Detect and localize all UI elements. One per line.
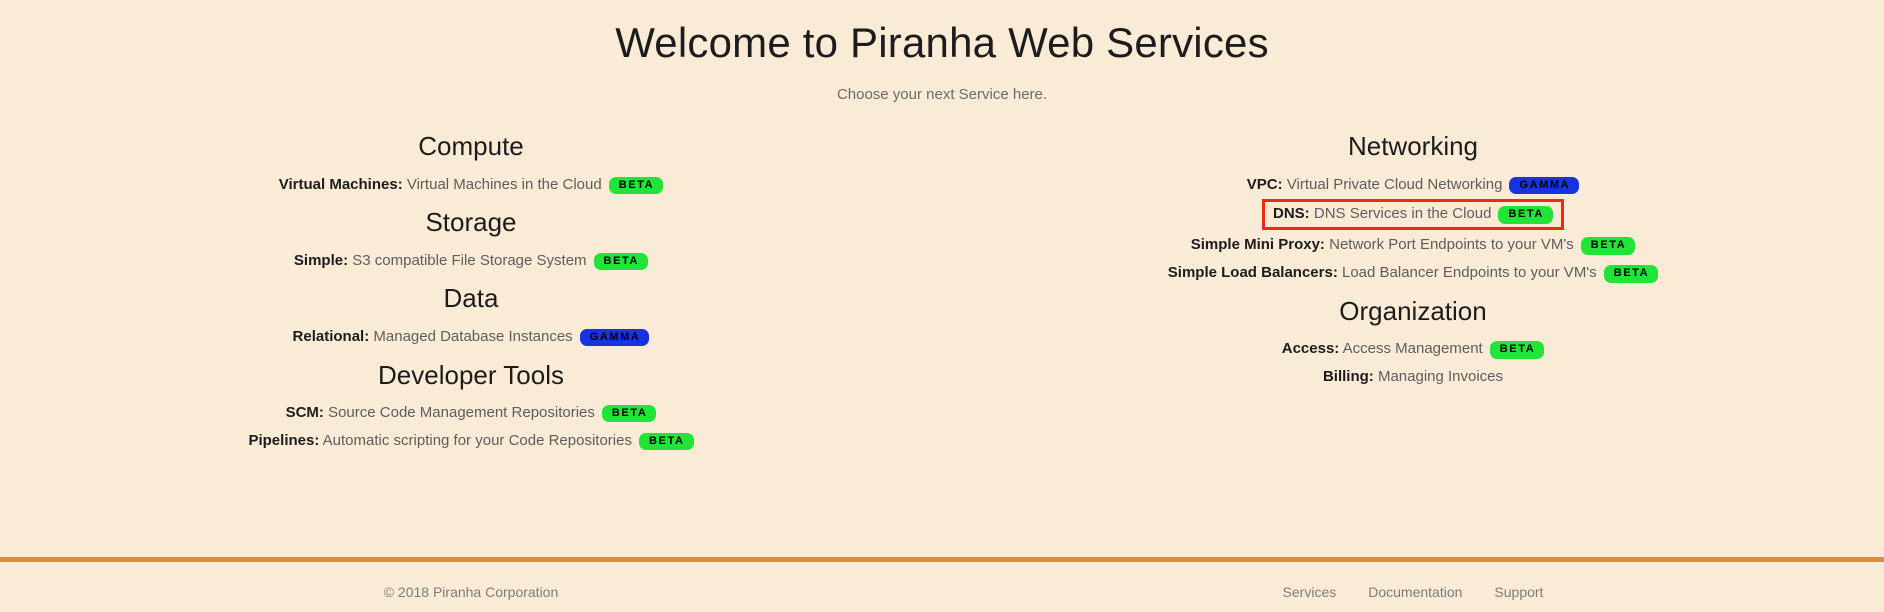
service-group: Developer ToolsSCM: Source Code Manageme… — [0, 355, 942, 455]
service-description: Managed Database Instances — [369, 328, 572, 345]
service-group-title: Data — [0, 278, 942, 318]
service-row[interactable]: Billing: Managing Invoices — [942, 363, 1884, 391]
service-group-title: Storage — [0, 202, 942, 242]
service-name: Simple: — [294, 252, 348, 269]
footer-link-support[interactable]: Support — [1494, 584, 1543, 600]
status-badge: BETA — [594, 253, 649, 271]
footer-inner: © 2018 Piranha Corporation ServicesDocum… — [0, 562, 1884, 600]
service-group-title: Organization — [942, 291, 1884, 331]
service-description: Virtual Machines in the Cloud — [403, 176, 602, 193]
service-row-wrapper: Access: Access ManagementBETA — [942, 335, 1884, 363]
footer-copyright-col: © 2018 Piranha Corporation — [0, 584, 942, 600]
service-description: Virtual Private Cloud Networking — [1283, 176, 1503, 193]
status-badge: BETA — [1490, 341, 1545, 359]
status-badge: BETA — [639, 433, 694, 451]
service-row-wrapper: Billing: Managing Invoices — [942, 363, 1884, 391]
footer: © 2018 Piranha Corporation ServicesDocum… — [0, 557, 1884, 612]
footer-link-services[interactable]: Services — [1283, 584, 1337, 600]
service-description: Managing Invoices — [1374, 368, 1503, 385]
service-row-wrapper: Simple Mini Proxy: Network Port Endpoint… — [942, 231, 1884, 259]
service-link[interactable]: SCM: Source Code Management Repositories — [286, 404, 595, 421]
service-row[interactable]: VPC: Virtual Private Cloud NetworkingGAM… — [942, 171, 1884, 199]
service-row[interactable]: Relational: Managed Database InstancesGA… — [0, 323, 942, 351]
service-link[interactable]: Pipelines: Automatic scripting for your … — [248, 432, 632, 449]
service-group-title: Networking — [942, 126, 1884, 166]
copyright-text: © 2018 Piranha Corporation — [384, 584, 559, 600]
status-badge: BETA — [1498, 206, 1553, 224]
service-name: Access: — [1282, 340, 1340, 357]
service-group-title: Compute — [0, 126, 942, 166]
service-link[interactable]: Simple Load Balancers: Load Balancer End… — [1168, 264, 1597, 281]
service-row-wrapper: Virtual Machines: Virtual Machines in th… — [0, 171, 942, 199]
service-name: Pipelines: — [248, 432, 319, 449]
service-name: DNS: — [1273, 205, 1310, 222]
status-badge: GAMMA — [580, 329, 650, 347]
service-row[interactable]: SCM: Source Code Management Repositories… — [0, 399, 942, 427]
service-row-wrapper: SCM: Source Code Management Repositories… — [0, 399, 942, 427]
service-link[interactable]: Access: Access Management — [1282, 340, 1483, 357]
service-column: NetworkingVPC: Virtual Private Cloud Net… — [942, 126, 1884, 458]
service-name: Billing: — [1323, 368, 1374, 385]
service-description: Source Code Management Repositories — [324, 404, 595, 421]
service-link[interactable]: DNS: DNS Services in the Cloud — [1273, 205, 1491, 222]
service-description: DNS Services in the Cloud — [1310, 205, 1492, 222]
service-name: Virtual Machines: — [279, 176, 403, 193]
service-description: Network Port Endpoints to your VM's — [1325, 236, 1574, 253]
page-root: Welcome to Piranha Web Services Choose y… — [0, 0, 1884, 612]
service-row[interactable]: Virtual Machines: Virtual Machines in th… — [0, 171, 942, 199]
service-row-wrapper: Relational: Managed Database InstancesGA… — [0, 323, 942, 351]
service-description: Automatic scripting for your Code Reposi… — [319, 432, 632, 449]
service-link[interactable]: VPC: Virtual Private Cloud Networking — [1247, 176, 1503, 193]
service-name: Simple Mini Proxy: — [1191, 236, 1325, 253]
service-row-wrapper: DNS: DNS Services in the CloudBETA — [942, 198, 1884, 231]
service-name: SCM: — [286, 404, 324, 421]
service-name: Simple Load Balancers: — [1168, 264, 1338, 281]
service-row-wrapper: Simple Load Balancers: Load Balancer End… — [942, 259, 1884, 287]
service-link[interactable]: Billing: Managing Invoices — [1323, 368, 1503, 385]
service-link[interactable]: Simple Mini Proxy: Network Port Endpoint… — [1191, 236, 1574, 253]
service-row-selected[interactable]: DNS: DNS Services in the CloudBETA — [1262, 199, 1564, 230]
page-subtitle: Choose your next Service here. — [0, 86, 1884, 104]
footer-link-documentation[interactable]: Documentation — [1368, 584, 1462, 600]
masthead: Welcome to Piranha Web Services Choose y… — [0, 0, 1884, 104]
status-badge: BETA — [1604, 265, 1659, 283]
status-badge: BETA — [602, 405, 657, 423]
status-badge: GAMMA — [1509, 177, 1579, 195]
status-badge: BETA — [1581, 237, 1636, 255]
service-row[interactable]: Simple: S3 compatible File Storage Syste… — [0, 247, 942, 275]
service-row[interactable]: Simple Mini Proxy: Network Port Endpoint… — [942, 231, 1884, 259]
service-row-wrapper: Simple: S3 compatible File Storage Syste… — [0, 247, 942, 275]
service-link[interactable]: Simple: S3 compatible File Storage Syste… — [294, 252, 587, 269]
service-column: ComputeVirtual Machines: Virtual Machine… — [0, 126, 942, 458]
service-group: OrganizationAccess: Access ManagementBET… — [942, 291, 1884, 391]
service-row-wrapper: Pipelines: Automatic scripting for your … — [0, 427, 942, 455]
service-group: NetworkingVPC: Virtual Private Cloud Net… — [942, 126, 1884, 286]
service-row[interactable]: Access: Access ManagementBETA — [942, 335, 1884, 363]
service-description: Access Management — [1339, 340, 1482, 357]
service-name: Relational: — [293, 328, 370, 345]
footer-links-col: ServicesDocumentationSupport — [942, 584, 1884, 600]
service-group: DataRelational: Managed Database Instanc… — [0, 278, 942, 350]
page-title: Welcome to Piranha Web Services — [0, 18, 1884, 68]
service-row-wrapper: VPC: Virtual Private Cloud NetworkingGAM… — [942, 171, 1884, 199]
service-link[interactable]: Relational: Managed Database Instances — [293, 328, 573, 345]
service-description: S3 compatible File Storage System — [348, 252, 586, 269]
service-name: VPC: — [1247, 176, 1283, 193]
service-row[interactable]: Simple Load Balancers: Load Balancer End… — [942, 259, 1884, 287]
service-group: StorageSimple: S3 compatible File Storag… — [0, 202, 942, 274]
status-badge: BETA — [609, 177, 664, 195]
service-row[interactable]: Pipelines: Automatic scripting for your … — [0, 427, 942, 455]
service-group-title: Developer Tools — [0, 355, 942, 395]
service-columns: ComputeVirtual Machines: Virtual Machine… — [0, 126, 1884, 458]
service-link[interactable]: Virtual Machines: Virtual Machines in th… — [279, 176, 602, 193]
service-group: ComputeVirtual Machines: Virtual Machine… — [0, 126, 942, 198]
service-description: Load Balancer Endpoints to your VM's — [1338, 264, 1597, 281]
